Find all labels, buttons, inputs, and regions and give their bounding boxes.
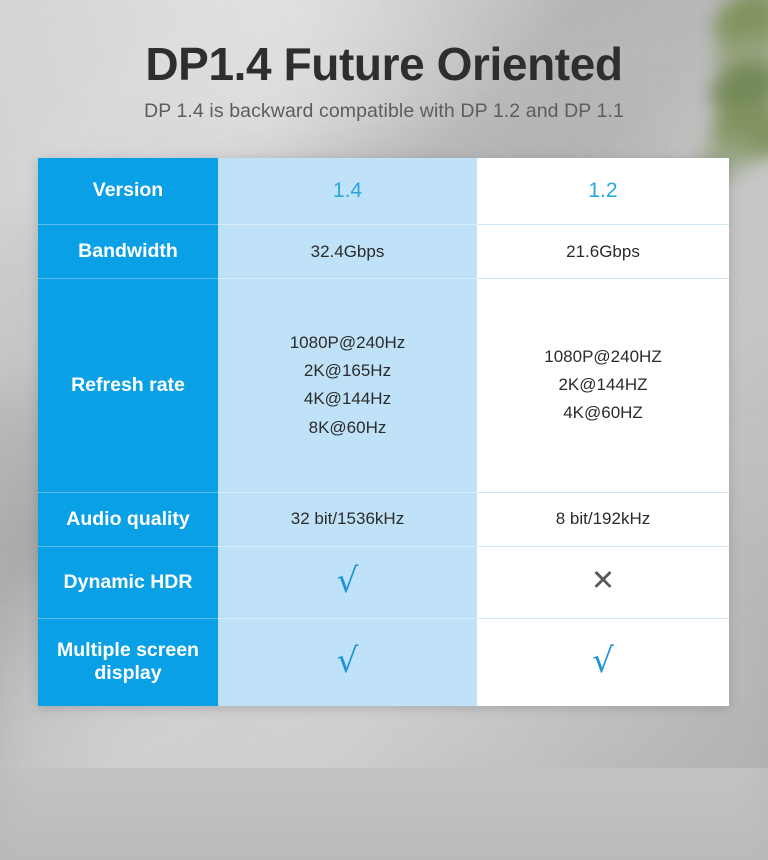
table-row: Dynamic HDR√✕ — [38, 547, 729, 619]
table-row: Refresh rate1080P@240Hz 2K@165Hz 4K@144H… — [38, 279, 729, 492]
cell-dp14-mark: √ — [218, 618, 477, 706]
page-subtitle: DP 1.4 is backward compatible with DP 1.… — [0, 100, 768, 123]
table-row: Audio quality32 bit/1536kHz8 bit/192kHz — [38, 492, 729, 547]
table-row: Version1.41.2 — [38, 158, 729, 224]
cross-mark-icon: ✕ — [591, 566, 615, 595]
cell-dp14-value: 32 bit/1536kHz — [218, 492, 477, 547]
check-mark-icon: √ — [337, 564, 359, 598]
cell-dp12-mark: √ — [477, 618, 729, 706]
cell-dp12-value: 1080P@240HZ 2K@144HZ 4K@60HZ — [477, 279, 729, 492]
row-label: Audio quality — [38, 492, 218, 547]
row-label: Dynamic HDR — [38, 547, 218, 619]
table-row: Multiple screen display√√ — [38, 618, 729, 706]
table-row: Bandwidth32.4Gbps21.6Gbps — [38, 224, 729, 279]
row-label: Refresh rate — [38, 279, 218, 492]
cell-dp14-value: 1.4 — [218, 158, 477, 224]
cell-dp14-mark: √ — [218, 547, 477, 619]
row-label: Version — [38, 158, 218, 224]
spec-comparison-table: Version1.41.2Bandwidth32.4Gbps21.6GbpsRe… — [38, 158, 729, 706]
cell-dp12-value: 21.6Gbps — [477, 224, 729, 279]
cell-dp12-value: 1.2 — [477, 158, 729, 224]
cell-dp14-value: 32.4Gbps — [218, 224, 477, 279]
row-label: Multiple screen display — [38, 618, 218, 706]
cell-dp12-mark: ✕ — [477, 547, 729, 619]
cell-dp12-value: 8 bit/192kHz — [477, 492, 729, 547]
page-title: DP1.4 Future Oriented — [0, 40, 768, 88]
row-label: Bandwidth — [38, 224, 218, 279]
check-mark-icon: √ — [337, 644, 359, 678]
page-header: DP1.4 Future Oriented DP 1.4 is backward… — [0, 40, 768, 124]
cell-dp14-value: 1080P@240Hz 2K@165Hz 4K@144Hz 8K@60Hz — [218, 279, 477, 492]
check-mark-icon: √ — [592, 644, 614, 678]
